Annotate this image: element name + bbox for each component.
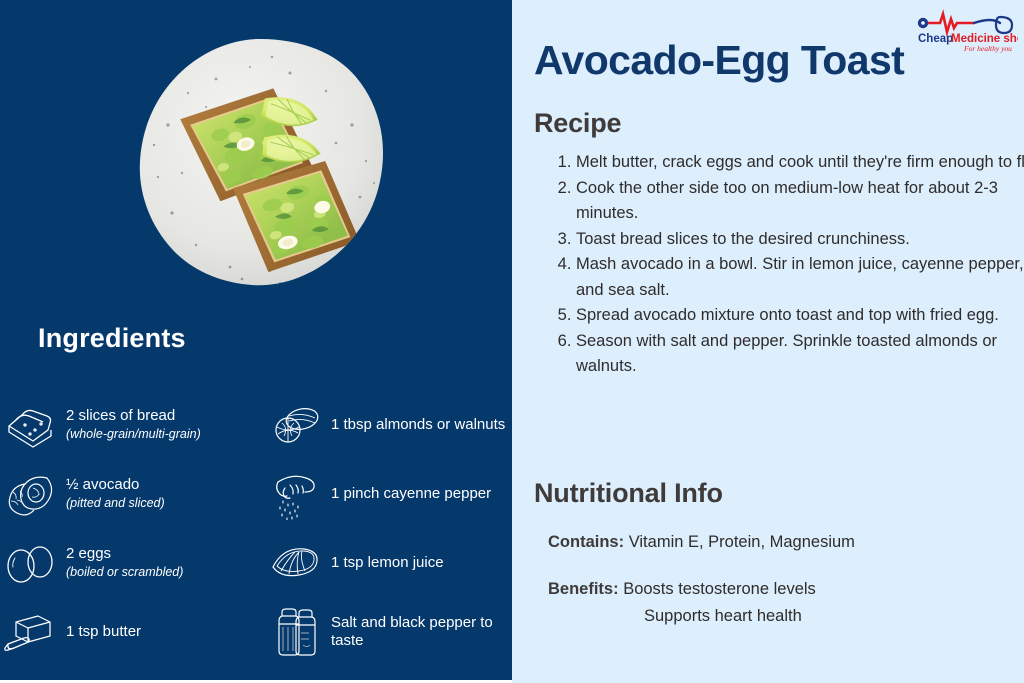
page-title: Avocado-Egg Toast (534, 36, 904, 84)
contains-value: Vitamin E, Protein, Magnesium (629, 533, 855, 551)
ingredient-item-butter: 1 tsp butter (0, 597, 265, 666)
ingredient-name: 1 tsp butter (66, 623, 141, 640)
ingredient-name: Salt and black pepper to taste (331, 614, 493, 649)
ingredient-item-cayenne: 1 pinch cayenne pepper (265, 459, 512, 528)
cayenne-pinch-icon (265, 465, 325, 523)
ingredient-name: 2 eggs (66, 545, 111, 562)
nutritional-info-heading: Nutritional Info (534, 478, 723, 509)
logo-tagline: For healthy you (963, 44, 1012, 53)
recipe-step: Cook the other side too on medium-low he… (576, 176, 1024, 227)
bread-slices-icon (0, 396, 60, 454)
avocado-halves-icon (0, 465, 60, 523)
ingredient-item-almonds-walnuts: 1 tbsp almonds or walnuts (265, 390, 512, 459)
recipe-step: Toast bread slices to the desired crunch… (576, 227, 1024, 253)
contains-label: Contains: (548, 533, 624, 551)
salt-pepper-shakers-icon (265, 603, 325, 661)
left-panel: Ingredients 2 slices of bread (whole-gra… (0, 0, 512, 683)
recipe-step: Melt butter, crack eggs and cook until t… (576, 150, 1024, 176)
cheap-medicine-shop-logo[interactable]: Cheap Medicine shop For healthy you (914, 6, 1018, 54)
ingredient-item-lemon-juice: 1 tsp lemon juice (265, 528, 512, 597)
nutrition-spacer (548, 557, 1018, 577)
benefits-label: Benefits: (548, 580, 619, 598)
ingredient-note: (boiled or scrambled) (66, 565, 183, 579)
recipe-step: Spread avocado mixture onto toast and to… (576, 303, 1024, 329)
infographic-page: Ingredients 2 slices of bread (whole-gra… (0, 0, 1024, 683)
ingredient-name: 2 slices of bread (66, 407, 175, 424)
nutrition-benefits-row: Benefits: Boosts testosterone levels (548, 577, 1018, 602)
ingredient-name: 1 pinch cayenne pepper (331, 485, 491, 502)
recipe-step: Mash avocado in a bowl. Stir in lemon ju… (576, 252, 1024, 303)
ingredient-note: (pitted and sliced) (66, 496, 165, 510)
recipe-heading: Recipe (534, 108, 621, 139)
ingredient-name: 1 tsp lemon juice (331, 554, 444, 571)
right-panel: Cheap Medicine shop For healthy you Avoc… (512, 0, 1024, 683)
nutrition-contains-row: Contains: Vitamin E, Protein, Magnesium (548, 530, 1018, 555)
recipe-step: Season with salt and pepper. Sprinkle to… (576, 329, 1024, 380)
logo-word-cheap: Cheap (918, 33, 953, 45)
ingredient-name: ½ avocado (66, 476, 139, 493)
benefits-value-2: Supports heart health (644, 607, 802, 625)
ingredient-item-salt-pepper: Salt and black pepper to taste (265, 597, 512, 666)
nutrition-benefits-row-2: Supports heart health (548, 604, 1018, 629)
recipe-steps-list: Melt butter, crack eggs and cook until t… (544, 150, 1024, 380)
ingredients-grid: 2 slices of bread (whole-grain/multi-gra… (0, 390, 512, 666)
benefits-value: Boosts testosterone levels (623, 580, 816, 598)
eggs-icon (0, 534, 60, 592)
nutritional-info-body: Contains: Vitamin E, Protein, Magnesium … (548, 530, 1018, 631)
ingredient-item-bread: 2 slices of bread (whole-grain/multi-gra… (0, 390, 265, 459)
butter-stick-icon (0, 603, 60, 661)
ingredients-heading: Ingredients (38, 323, 186, 354)
avocado-egg-toast-photo (130, 33, 390, 295)
ingredient-note: (whole-grain/multi-grain) (66, 427, 201, 441)
lemon-wedge-icon (265, 534, 325, 592)
ingredient-name: 1 tbsp almonds or walnuts (331, 416, 505, 433)
ingredient-item-avocado: ½ avocado (pitted and sliced) (0, 459, 265, 528)
ingredient-item-eggs: 2 eggs (boiled or scrambled) (0, 528, 265, 597)
almonds-walnuts-icon (265, 396, 325, 454)
